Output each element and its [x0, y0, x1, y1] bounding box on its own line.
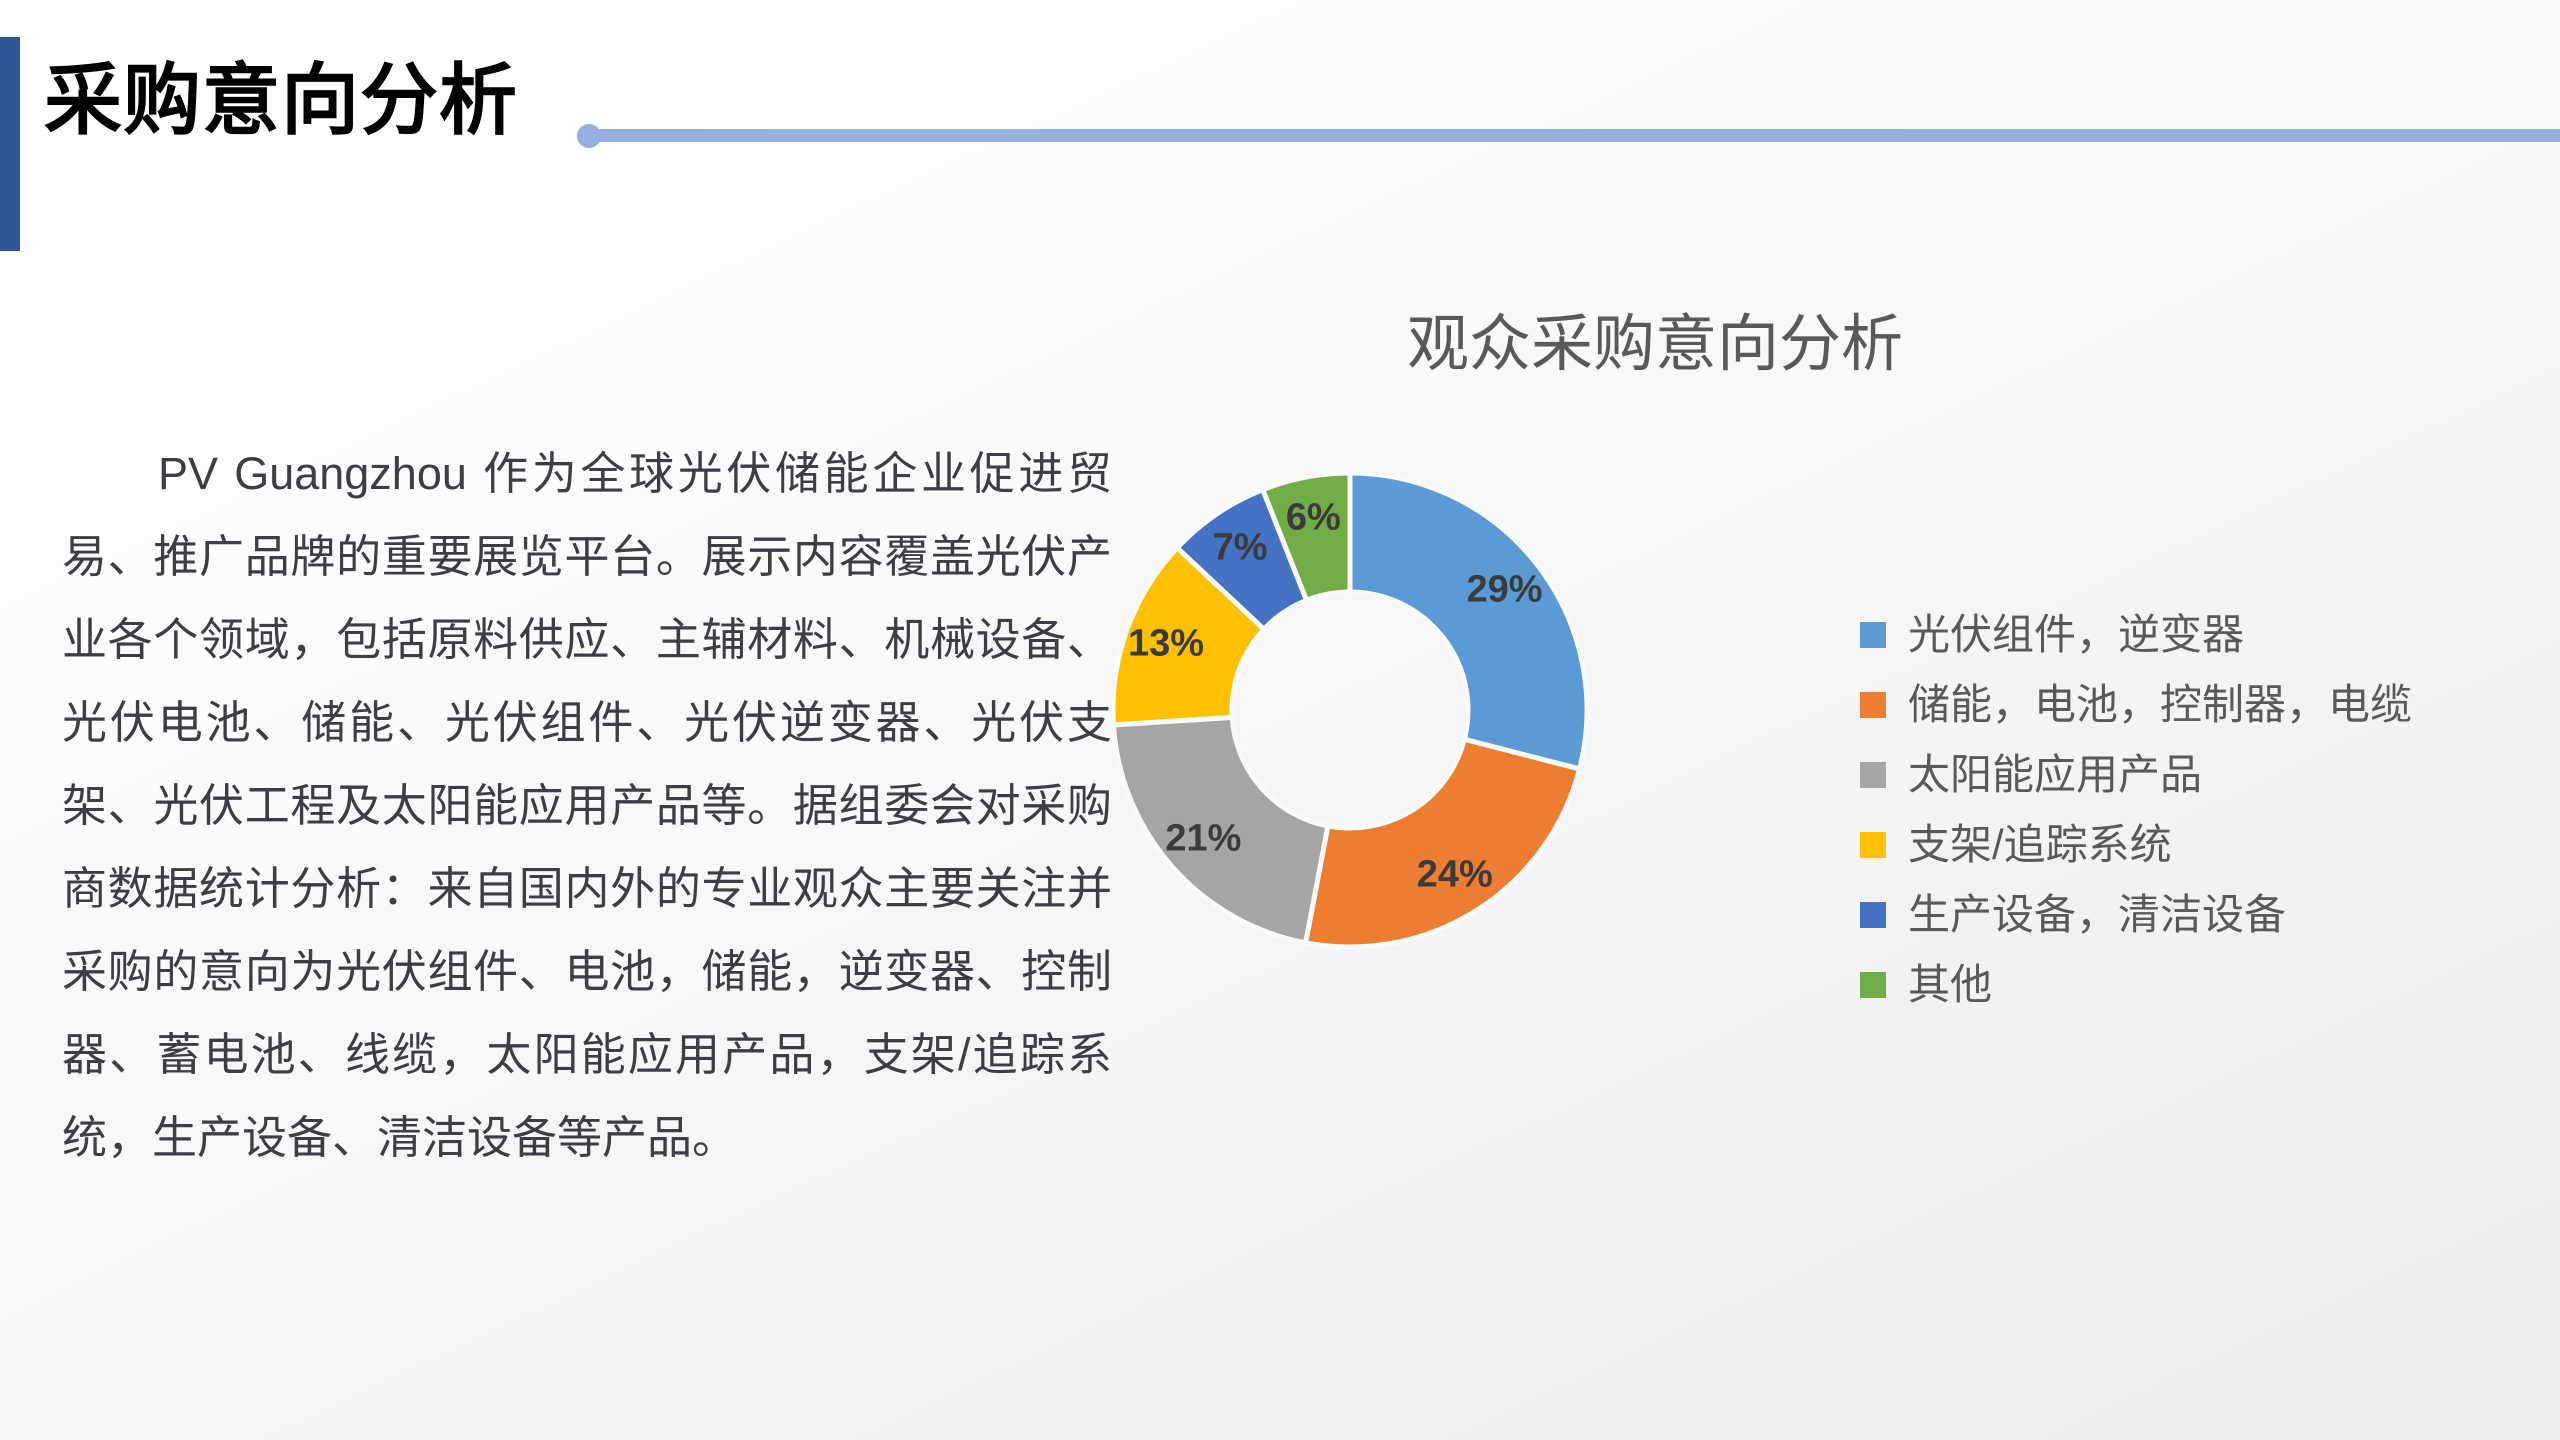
legend-item-label: 光伏组件，逆变器	[1908, 610, 2244, 660]
slide-root: 采购意向分析 PV Guangzhou 作为全球光伏储能企业促进贸易、推广品牌的…	[0, 0, 2560, 1440]
legend-item[interactable]: 太阳能应用产品	[1860, 740, 2520, 810]
legend-swatch-icon	[1860, 832, 1886, 858]
legend-swatch-icon	[1860, 902, 1886, 928]
legend-item[interactable]: 支架/追踪系统	[1860, 810, 2520, 880]
legend-item-label: 生产设备，清洁设备	[1908, 890, 2286, 940]
legend-item-label: 其他	[1908, 960, 1992, 1010]
title-divider-line	[588, 129, 2560, 142]
chart-title: 观众采购意向分析	[1120, 300, 2190, 390]
legend-swatch-icon	[1860, 692, 1886, 718]
pie-slice	[1306, 739, 1580, 947]
legend-item[interactable]: 生产设备，清洁设备	[1860, 880, 2520, 950]
legend-item[interactable]: 其他	[1860, 950, 2520, 1020]
body-paragraph: PV Guangzhou 作为全球光伏储能企业促进贸易、推广品牌的重要展览平台。…	[62, 432, 1112, 1179]
page-title: 采购意向分析	[44, 52, 518, 148]
chart-legend: 光伏组件，逆变器储能，电池，控制器，电缆太阳能应用产品支架/追踪系统生产设备，清…	[1860, 600, 2520, 1020]
title-accent-bar	[0, 37, 20, 251]
legend-item[interactable]: 储能，电池，控制器，电缆	[1860, 670, 2520, 740]
legend-item[interactable]: 光伏组件，逆变器	[1860, 600, 2520, 670]
legend-item-label: 储能，电池，控制器，电缆	[1908, 680, 2412, 730]
pie-slice	[1350, 473, 1587, 769]
legend-swatch-icon	[1860, 762, 1886, 788]
legend-swatch-icon	[1860, 622, 1886, 648]
legend-item-label: 太阳能应用产品	[1908, 750, 2202, 800]
pie-slice	[1113, 717, 1327, 942]
legend-item-label: 支架/追踪系统	[1908, 820, 2172, 870]
chart-container: 观众采购意向分析 29%24%21%13%7%6% 光伏组件，逆变器储能，电池，…	[1120, 300, 2520, 1260]
doughnut-chart	[1100, 460, 1600, 960]
legend-swatch-icon	[1860, 972, 1886, 998]
